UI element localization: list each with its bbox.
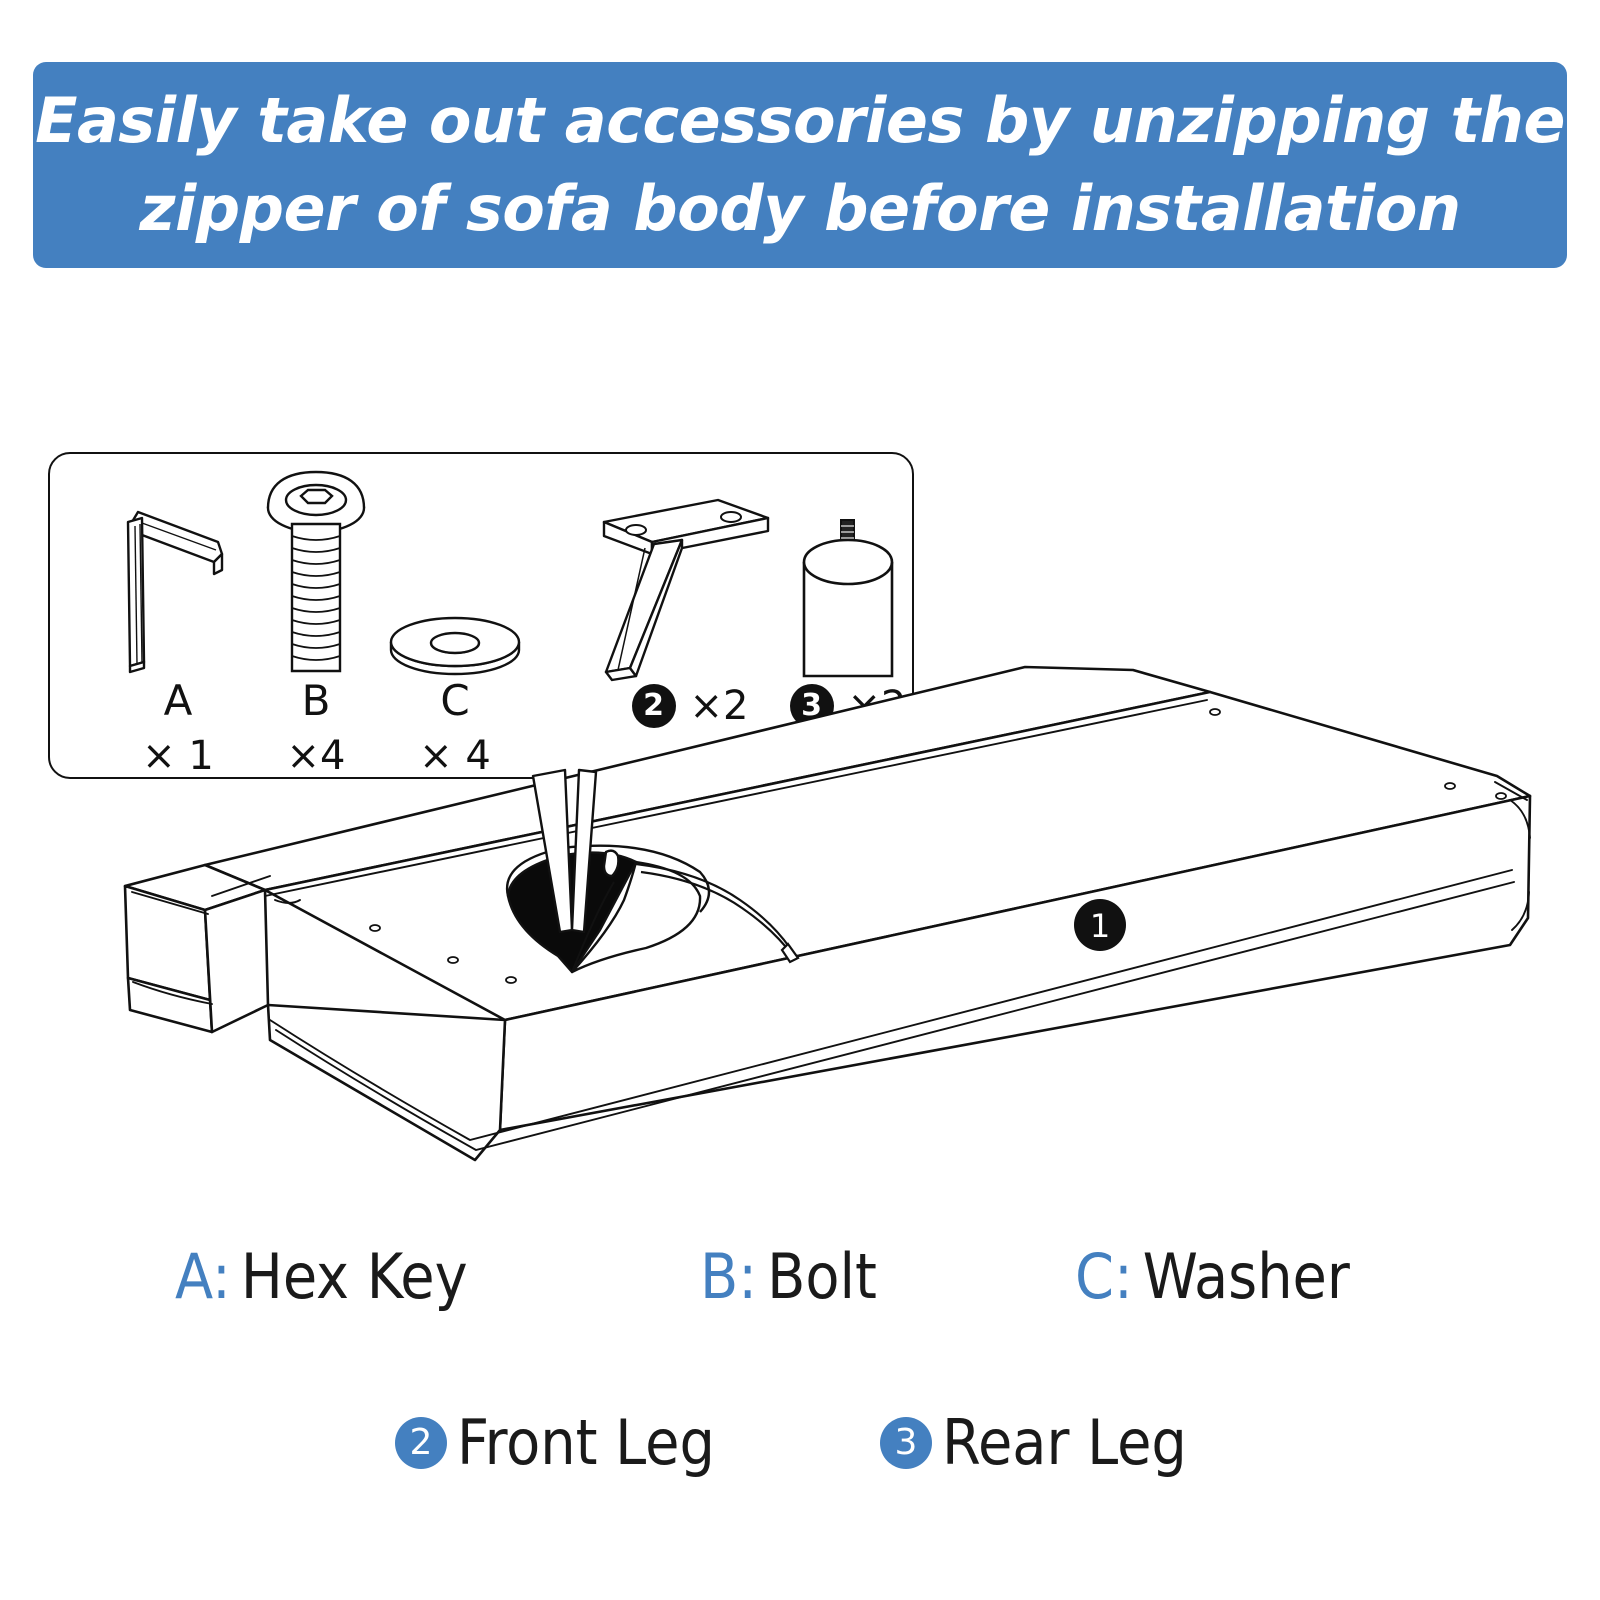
legend-item-rear-leg: 3 Rear Leg — [880, 1412, 1187, 1474]
legend-key-c: C: — [1075, 1246, 1133, 1308]
legend-key-b: B: — [700, 1246, 757, 1308]
legend-legs-row: 2 Front Leg 3 Rear Leg — [0, 1412, 1600, 1512]
legend-key-a: A: — [175, 1246, 231, 1308]
legend-label-front-leg: Front Leg — [457, 1412, 715, 1474]
legend-label-rear-leg: Rear Leg — [942, 1412, 1187, 1474]
badge-1-marker: 1 — [1074, 899, 1126, 951]
banner-line-1: Easily take out accessories by unzipping… — [35, 77, 1565, 165]
legend-badge-3: 3 — [880, 1417, 932, 1469]
legend-item-bolt: B: Bolt — [700, 1246, 877, 1308]
sofa-base-illustration: 1 — [0, 600, 1600, 1220]
legend-item-hex-key: A: Hex Key — [175, 1246, 468, 1308]
legend-label-washer: Washer — [1143, 1246, 1350, 1308]
sofa-base-shape — [125, 667, 1530, 1160]
legend-hardware-row: A: Hex Key B: Bolt C: Washer — [0, 1246, 1600, 1336]
banner-line-2: zipper of sofa body before installation — [139, 165, 1460, 253]
zipper-pull-icon — [604, 851, 618, 876]
legend-item-front-leg: 2 Front Leg — [395, 1412, 715, 1474]
legend-badge-2: 2 — [395, 1417, 447, 1469]
badge-1-text: 1 — [1090, 907, 1110, 945]
legend-item-washer: C: Washer — [1075, 1246, 1350, 1308]
legend-label-hex-key: Hex Key — [241, 1246, 468, 1308]
legend-label-bolt: Bolt — [767, 1246, 877, 1308]
header-banner: Easily take out accessories by unzipping… — [33, 62, 1567, 268]
